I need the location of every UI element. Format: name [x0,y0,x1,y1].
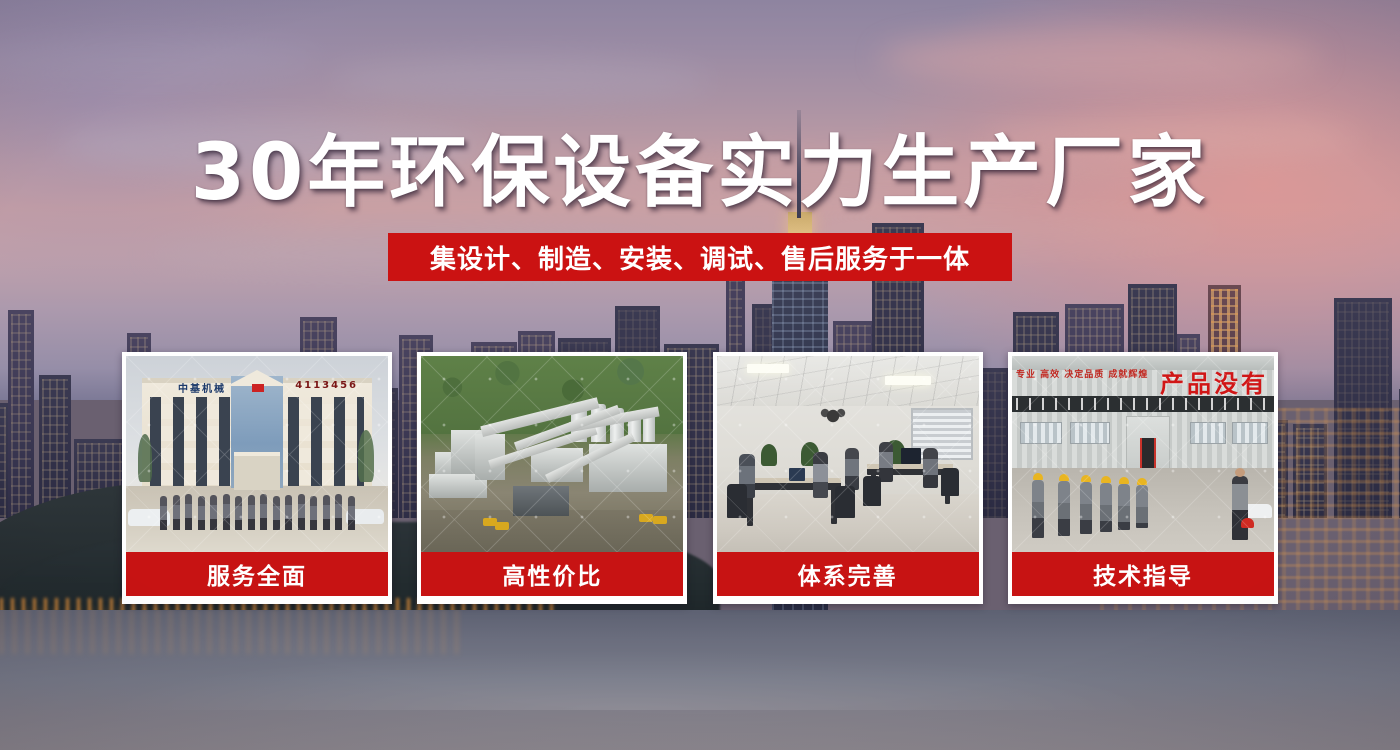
office-chair [727,484,747,518]
feature-card[interactable]: 中基机械 4113456 服务全面 [122,352,392,604]
hard-hat-icon [1119,477,1129,484]
staff-figure [160,496,167,530]
worker-figure [1080,482,1092,534]
water-sheen [0,610,1400,710]
hard-hat-icon [1101,476,1111,483]
flag-icon [252,384,264,392]
subtitle-text: 集设计、制造、安装、调试、售后服务于一体 [430,239,970,276]
seated-employee [813,452,828,498]
skyline-building [8,310,34,518]
feature-card[interactable]: 体系完善 [713,352,983,604]
feature-card-row: 中基机械 4113456 服务全面 [122,352,1278,604]
card-label: 技术指导 [1012,552,1274,596]
ceiling-light [885,376,931,385]
factory-clerestory-strip [1012,396,1274,412]
feature-card[interactable]: 高性价比 [417,352,687,604]
excavator [495,522,509,530]
seated-employee [845,448,859,490]
staff-figure [348,496,355,530]
worker-figure [1100,483,1112,532]
staff-figure [235,496,242,530]
laptop [789,468,805,481]
card-photo-factory-workers: 专业 高效 决定品质 成就辉煌 产品没有 [1012,356,1274,552]
staff-figure [198,496,205,530]
page-title: 30年环保设备实力生产厂家 [0,131,1400,215]
potted-plant [761,444,777,466]
staff-figure [185,494,192,530]
card-photo-company-building: 中基机械 4113456 [126,356,388,552]
office-chair [863,476,881,506]
factory-window [1020,422,1062,444]
staff-figure [310,496,317,530]
company-sign-text: 中基机械 [178,380,226,395]
factory-slogan-small-text: 专业 高效 决定品质 成就辉煌 [1016,370,1148,381]
tree [358,430,374,482]
factory-window [1232,422,1268,444]
worker-figure [1118,484,1130,530]
excavator [653,516,667,524]
staff-lineup [160,488,356,530]
feature-card[interactable]: 专业 高效 决定品质 成就辉煌 产品没有 技术指导 [1008,352,1278,604]
staff-figure [248,495,255,530]
card-photo-industrial-plant [421,356,683,552]
computer-monitor [901,448,921,464]
card-photo-office-interior [717,356,979,552]
staff-figure [285,495,292,530]
ceiling-light [747,364,789,373]
supervisor-figure [1232,476,1248,540]
excavator [639,514,653,522]
factory-window [1190,422,1226,444]
card-label: 服务全面 [126,552,388,596]
factory-doorway [1140,438,1156,470]
office-chair [835,486,855,518]
red-helmet-icon [1241,518,1254,528]
card-label: 体系完善 [717,552,979,596]
wall-decal [813,398,853,428]
hard-hat-icon [1137,478,1147,485]
staff-figure [223,494,230,530]
factory-sign-text: 产品没有 [1160,364,1268,399]
staff-figure [173,495,180,530]
worker-figure [1136,485,1148,528]
seated-employee [879,442,893,482]
staff-figure [323,495,330,530]
staff-figure [335,494,342,530]
worker-figure [1058,481,1070,536]
skyline-building [1293,424,1327,518]
building-entrance [234,452,280,490]
hard-hat-icon [1059,474,1069,481]
tree [138,434,152,482]
office-chair [941,468,959,496]
plant-building [513,486,569,516]
phone-number-text: 4113456 [295,380,358,391]
factory-window [1070,422,1110,444]
supervisor-head [1235,468,1245,477]
seated-employee [923,448,938,488]
hard-hat-icon [1081,475,1091,482]
card-label: 高性价比 [421,552,683,596]
staff-figure [273,496,280,530]
staff-figure [298,494,305,530]
promotional-banner: 30年环保设备实力生产厂家 集设计、制造、安装、调试、售后服务于一体 中基机械 … [0,0,1400,750]
staff-figure [210,495,217,530]
worker-figure [1032,480,1044,538]
skyline-building [1334,298,1392,518]
subtitle-ribbon: 集设计、制造、安装、调试、售后服务于一体 [388,233,1012,281]
staff-figure [260,494,267,530]
hard-hat-icon [1033,473,1043,480]
